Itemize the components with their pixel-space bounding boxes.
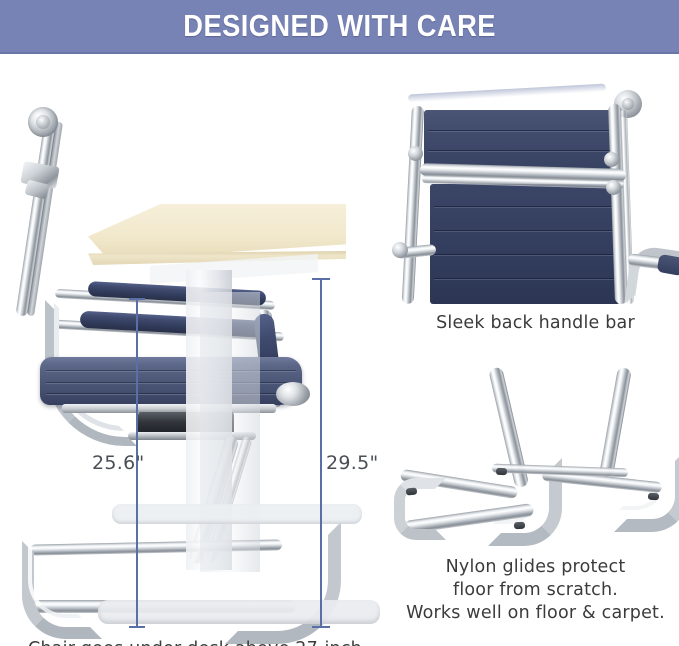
armrest-height-dimension-tick-bottom <box>312 626 330 628</box>
armrest-height-dimension-line <box>320 278 322 628</box>
caption-line-2: floor from scratch. <box>392 579 679 602</box>
desk-foot-upper-icon <box>112 504 362 524</box>
sled-base-illustration <box>392 360 679 560</box>
backrest-lower-panel-icon <box>430 184 620 304</box>
desk-foot-lower-icon <box>98 600 380 624</box>
sled-front-tip-icon <box>394 478 446 540</box>
seat-seam <box>46 382 298 383</box>
nylon-glide-icon <box>406 487 418 495</box>
seat-front-roll-icon <box>276 382 310 406</box>
caption-line-3: Works well on floor & carpet. <box>392 602 679 625</box>
chair-back-illustration <box>392 60 679 304</box>
panel-chair-back-detail: Sleek back handle bar <box>392 60 679 348</box>
backrest-left-rail-icon <box>402 106 424 304</box>
backrest-top-pivot-core-icon <box>36 115 50 129</box>
caption-chair-under-desk: Chair goes under desk above 27-inch <box>0 638 390 646</box>
nylon-glide-icon <box>514 522 525 530</box>
nylon-glide-icon <box>648 493 659 501</box>
panel-sled-base-detail: Nylon glides protect floor from scratch.… <box>392 360 679 646</box>
leather-rib <box>434 230 616 231</box>
armrest-height-dimension-tick-top <box>312 278 330 280</box>
desk-column-secondary-icon <box>200 292 260 572</box>
left-armrest-cap-icon <box>392 242 408 258</box>
page-title: DESIGNED WITH CARE <box>183 8 496 44</box>
frame-bolt-icon <box>606 180 621 195</box>
nylon-glide-icon <box>496 468 507 475</box>
frame-bolt-icon <box>604 152 619 167</box>
caption-line-1: Nylon glides protect <box>392 556 679 579</box>
seat-cushion-icon <box>40 357 302 405</box>
leather-rib <box>434 254 616 255</box>
armrest-height-dimension-label: 29.5" <box>326 452 379 474</box>
leather-rib <box>434 278 616 279</box>
caption-nylon-glides: Nylon glides protect floor from scratch.… <box>392 556 679 625</box>
caption-sleek-back-handle-bar: Sleek back handle bar <box>392 312 679 335</box>
backrest-pivot-core-icon <box>622 98 634 110</box>
leather-rib <box>428 130 612 131</box>
leather-rib <box>434 206 616 207</box>
seat-height-dimension-tick-bottom <box>129 626 145 628</box>
panel-chair-under-desk: 25.6" 29.5" Chair goes under desk above … <box>0 52 390 646</box>
chair-desk-illustration: 25.6" 29.5" <box>0 52 390 646</box>
frame-bolt-icon <box>408 146 423 161</box>
backrest-upper-panel-icon <box>424 110 616 172</box>
leather-rib <box>428 150 612 151</box>
seat-height-dimension-label: 25.6" <box>92 452 145 474</box>
header-banner: DESIGNED WITH CARE <box>0 0 679 54</box>
seat-height-dimension-tick-top <box>129 298 145 300</box>
